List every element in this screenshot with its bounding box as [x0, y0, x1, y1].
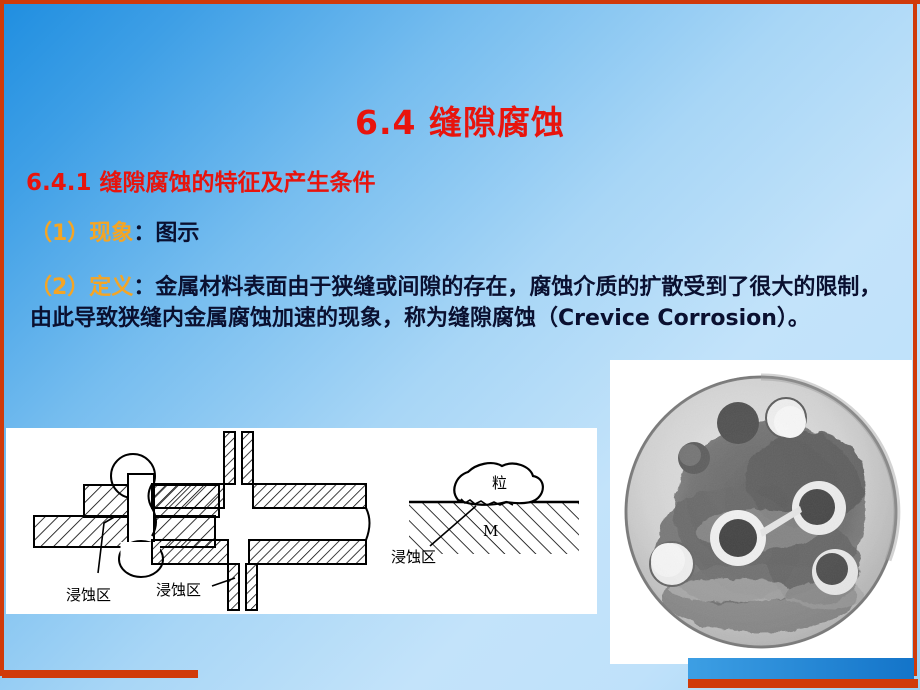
slide-subtitle: 6.4.1 缝隙腐蚀的特征及产生条件 [26, 163, 376, 197]
bullet-2-marker: （2）定义 [30, 275, 133, 300]
bullet-phenomenon: （1）现象：图示 [30, 218, 199, 249]
bullet-definition: （2）定义：金属材料表面由于狭缝或间隙的存在，腐蚀介质的扩散受到了很大的限制，由… [30, 272, 896, 334]
bullet-1-text: 图示 [155, 221, 199, 246]
footer-red-bar-right [688, 679, 918, 688]
crevice-diagram-svg: 浸蚀区 [6, 428, 597, 614]
corroded-disc-photo-panel [610, 360, 912, 664]
figure-1-caption: 浸蚀区 [66, 586, 111, 604]
footer-blue-bar [688, 658, 914, 680]
crevice-diagram-panel: 浸蚀区 [6, 428, 597, 614]
figure-3-metal-label: M [483, 522, 498, 540]
figure-3-caption: 浸蚀区 [391, 548, 436, 566]
slide-canvas: 6.4 缝隙腐蚀 6.4.1 缝隙腐蚀的特征及产生条件 （1）现象：图示 （2）… [0, 0, 920, 690]
bullet-2-text-b: ）。 [777, 306, 810, 331]
corroded-disc-photo [610, 360, 912, 664]
bullet-2-term-english: Crevice Corrosion [558, 306, 777, 331]
slide-title: 6.4 缝隙腐蚀 [0, 96, 920, 144]
figure-2-caption: 浸蚀区 [156, 581, 201, 599]
frame-border-top [0, 0, 920, 4]
bullet-1-colon: ： [133, 221, 155, 246]
figure-3-particle-label: 粒 [492, 474, 507, 492]
bullet-1-marker: （1）现象 [30, 221, 133, 246]
footer-red-bar-left [2, 670, 198, 678]
bullet-2-colon: ： [133, 275, 155, 300]
